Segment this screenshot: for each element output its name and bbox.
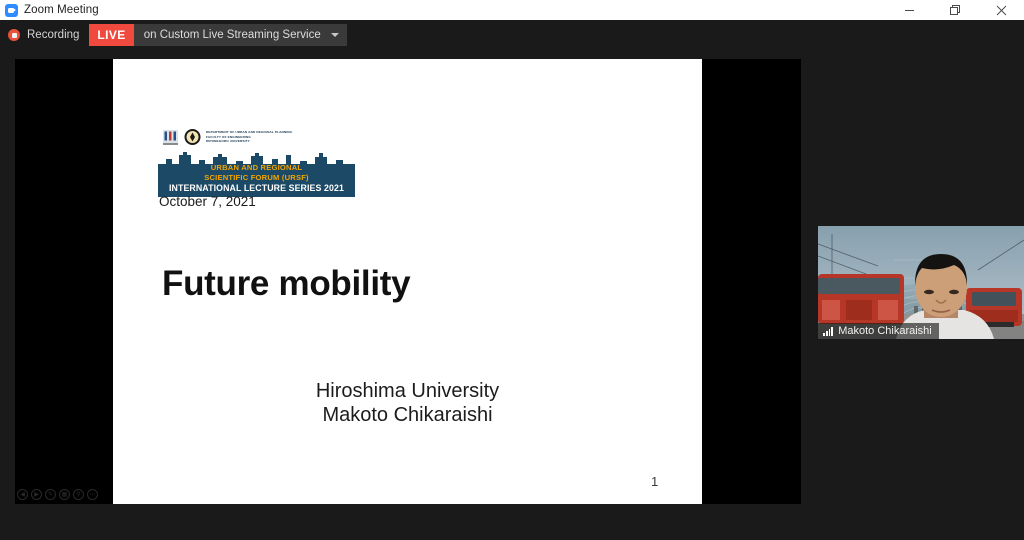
- logo-header-row: DEPARTMENT OF URBAN AND REGIONAL PLANNIN…: [158, 124, 355, 150]
- slide-affiliation: Hiroshima University: [113, 379, 702, 403]
- thumbnails-icon[interactable]: ▦: [59, 489, 70, 500]
- close-button[interactable]: [979, 0, 1024, 20]
- audio-level-icon: [823, 327, 833, 336]
- recording-indicator[interactable]: Recording: [8, 29, 79, 41]
- banner-line-1: URBAN AND REGIONAL: [158, 163, 355, 172]
- banner-line-3: INTERNATIONAL LECTURE SERIES 2021: [158, 183, 355, 193]
- previous-slide-icon[interactable]: ◀: [17, 489, 28, 500]
- next-slide-icon[interactable]: ▶: [31, 489, 42, 500]
- logo-banner: URBAN AND REGIONAL SCIENTIFIC FORUM (URS…: [158, 150, 355, 197]
- recording-label: Recording: [27, 29, 79, 41]
- slide-presenter-block: Hiroshima University Makoto Chikaraishi: [113, 379, 702, 427]
- slide-presenter-name: Makoto Chikaraishi: [113, 403, 702, 427]
- university-seal-icon: [184, 128, 201, 147]
- shared-screen-region: DEPARTMENT OF URBAN AND REGIONAL PLANNIN…: [15, 59, 801, 504]
- restore-icon: [950, 5, 961, 16]
- ursf-logo: DEPARTMENT OF URBAN AND REGIONAL PLANNIN…: [158, 124, 355, 197]
- more-options-icon[interactable]: ⋯: [87, 489, 98, 500]
- participant-name: Makoto Chikaraishi: [838, 325, 932, 337]
- banner-line-2: SCIENTIFIC FORUM (URSF): [158, 173, 355, 182]
- meeting-status-bar: Recording LIVE on Custom Live Streaming …: [0, 20, 1024, 50]
- live-badge: LIVE: [89, 24, 133, 46]
- slide-page-number: 1: [651, 474, 658, 489]
- zoom-icon[interactable]: ⚲: [73, 489, 84, 500]
- slide-date: October 7, 2021: [159, 194, 256, 209]
- logo-organization-text: DEPARTMENT OF URBAN AND REGIONAL PLANNIN…: [206, 130, 292, 143]
- chevron-down-icon[interactable]: [331, 33, 339, 37]
- slide-title: Future mobility: [162, 264, 410, 304]
- presentation-slide: DEPARTMENT OF URBAN AND REGIONAL PLANNIN…: [113, 59, 702, 504]
- participant-video-tile[interactable]: Makoto Chikaraishi: [818, 226, 1024, 339]
- minimize-icon: [904, 5, 915, 16]
- close-icon: [996, 5, 1007, 16]
- pen-icon[interactable]: ✎: [45, 489, 56, 500]
- restore-button[interactable]: [933, 0, 978, 20]
- window-title: Zoom Meeting: [24, 4, 99, 16]
- presenter-toolbar[interactable]: ◀ ▶ ✎ ▦ ⚲ ⋯: [17, 489, 98, 500]
- recording-stop-icon[interactable]: [8, 29, 20, 41]
- window-title-bar: Zoom Meeting: [0, 0, 1024, 20]
- diponegoro-crest-icon: [162, 128, 179, 147]
- live-service-label: on Custom Live Streaming Service: [144, 29, 321, 41]
- live-streaming-dropdown[interactable]: on Custom Live Streaming Service: [134, 24, 347, 46]
- logo-org-line-3: DIPONEGORO UNIVERSITY: [206, 139, 292, 143]
- participant-name-bar: Makoto Chikaraishi: [818, 323, 939, 339]
- zoom-camera-icon: [5, 4, 18, 17]
- minimize-button[interactable]: [887, 0, 932, 20]
